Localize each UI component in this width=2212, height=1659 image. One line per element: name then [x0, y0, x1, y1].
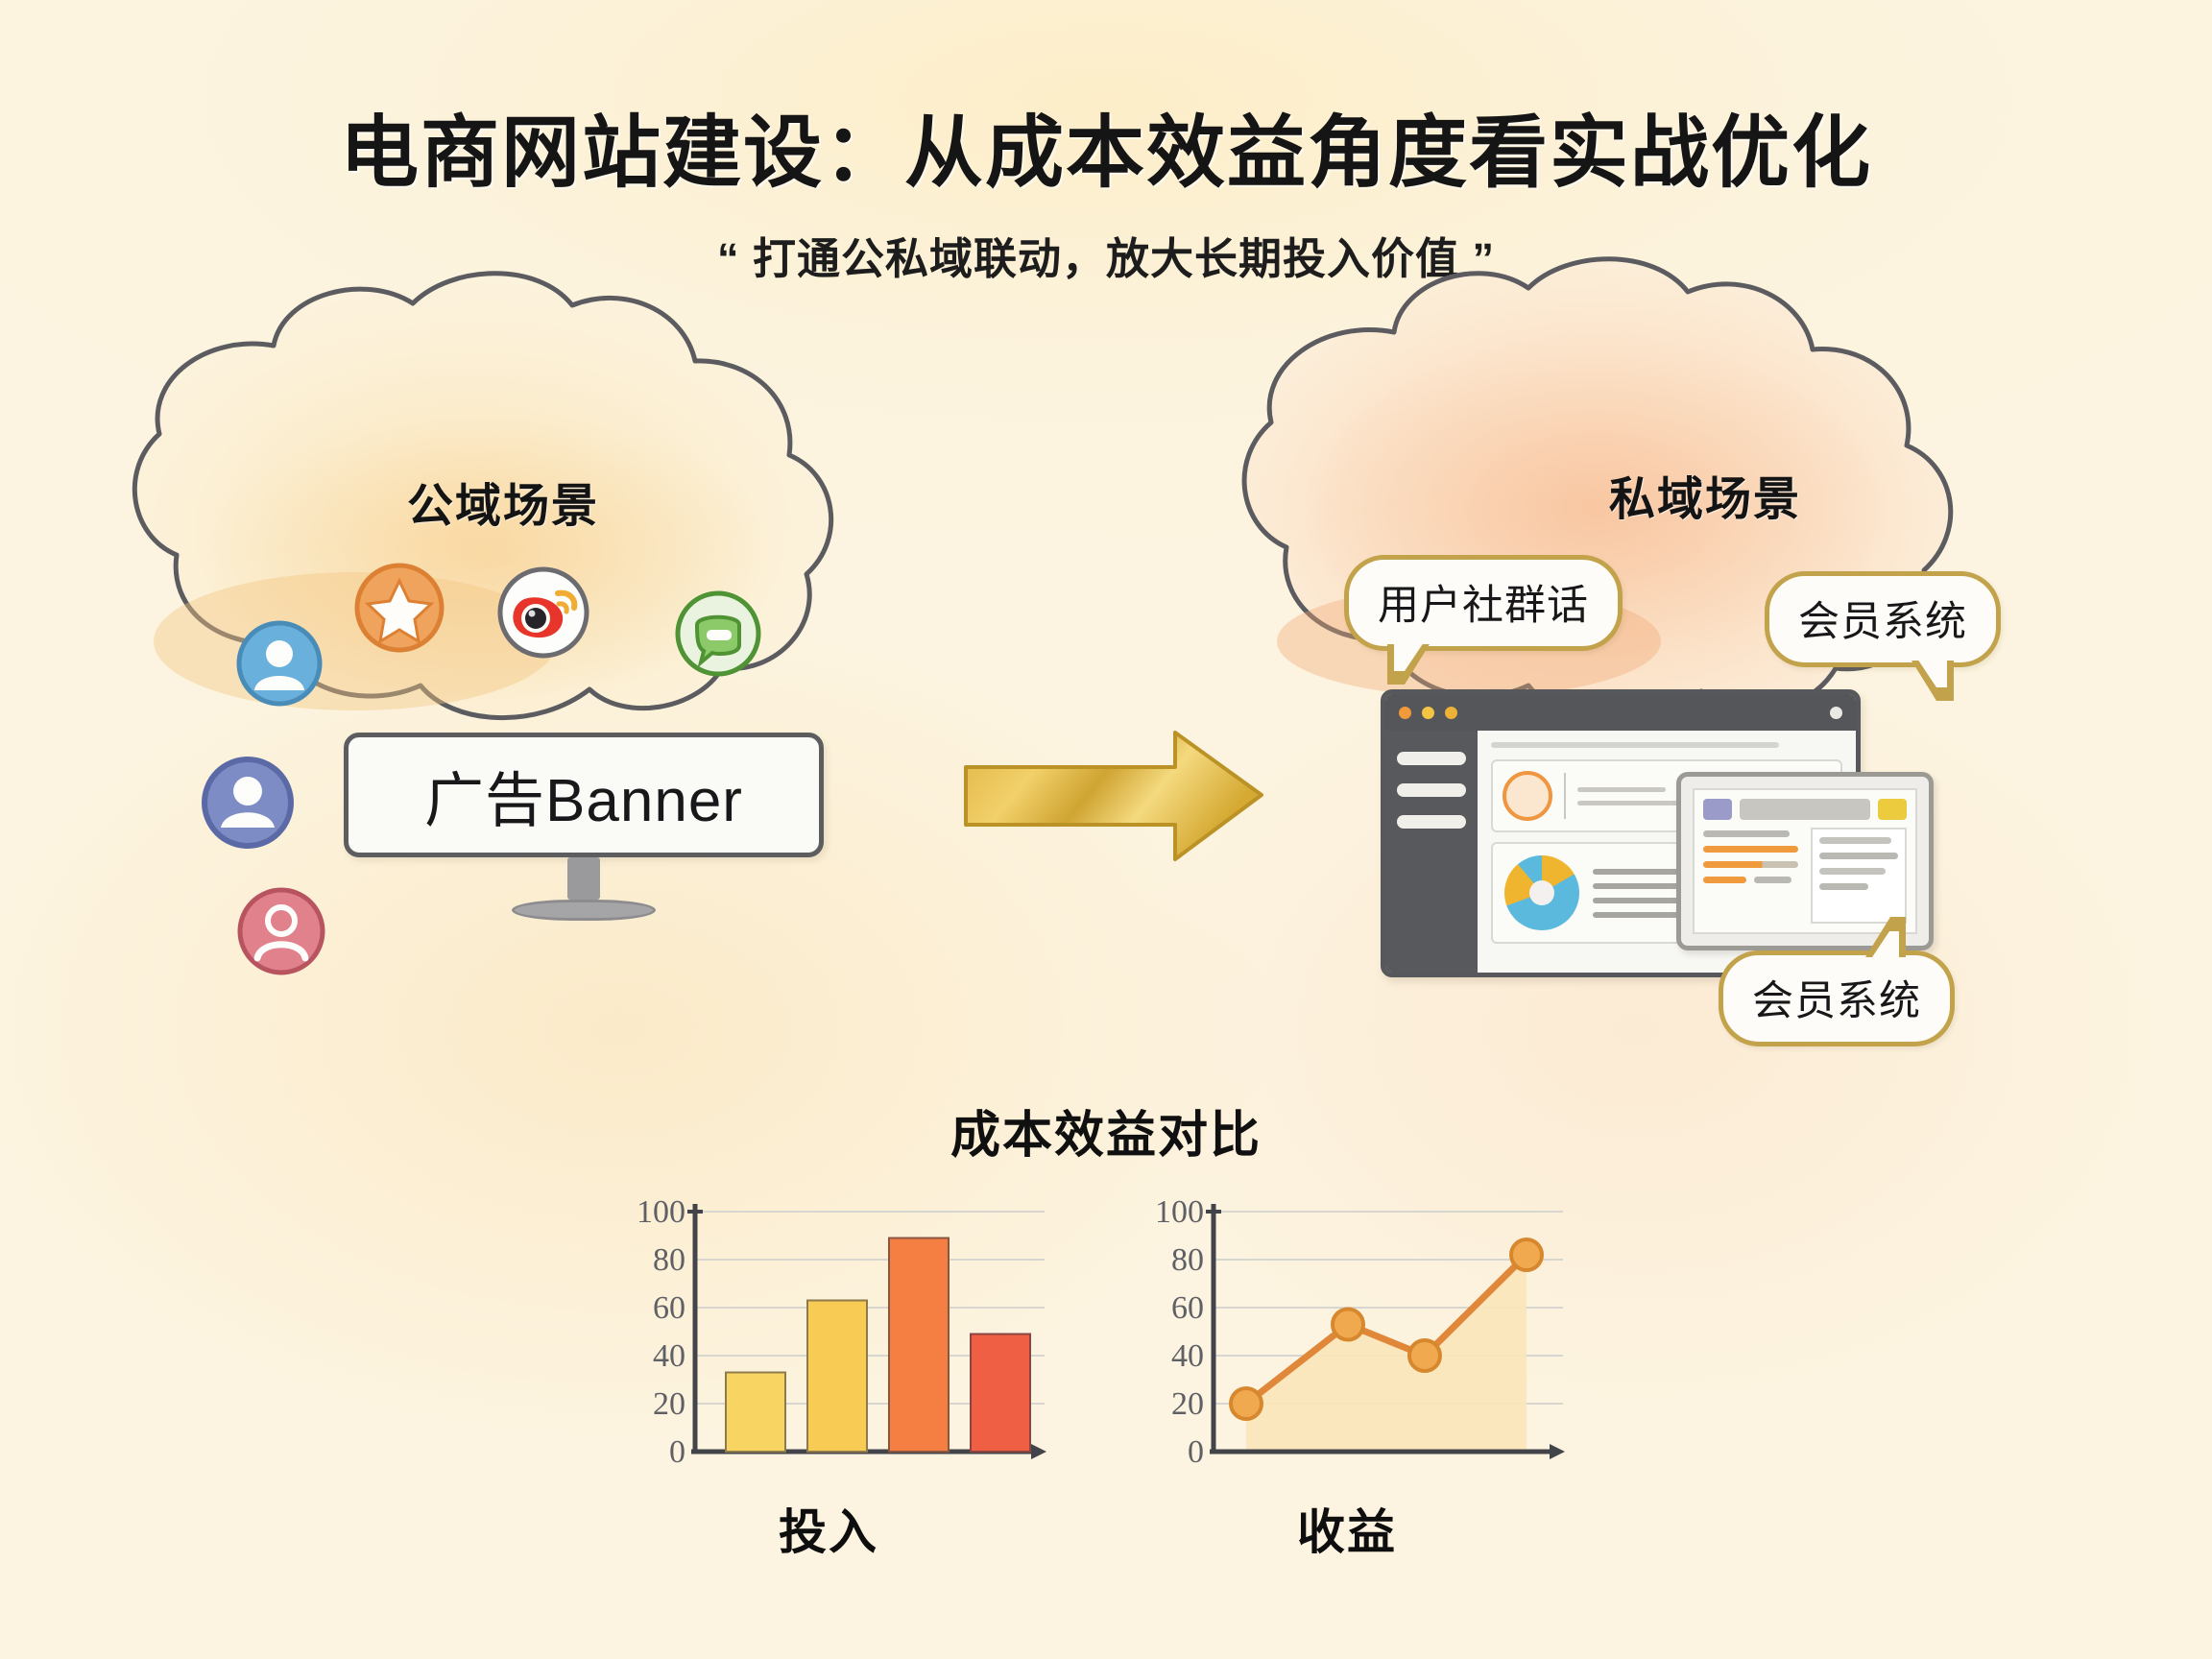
bubble-label: 会员系统 — [1752, 978, 1921, 1024]
svg-text:80: 80 — [1171, 1242, 1204, 1278]
bar-1 — [726, 1373, 785, 1453]
monitor-neck — [567, 857, 600, 900]
member-panel-toolbar — [1703, 799, 1907, 820]
svg-text:40: 40 — [653, 1338, 685, 1374]
window-dot-yellow-icon — [1422, 707, 1434, 719]
y-axis-ticks: 100 80 60 40 20 0 — [1155, 1194, 1204, 1470]
x-axis-arrow-icon — [1550, 1444, 1565, 1459]
bar-3 — [889, 1238, 949, 1453]
bubble-label: 会员系统 — [1798, 599, 1967, 645]
data-point-3 — [1409, 1340, 1440, 1371]
data-point-2 — [1333, 1310, 1363, 1340]
monitor-screen[interactable]: 广告Banner — [344, 733, 824, 857]
bubble-member-system-top[interactable]: 会员系统 — [1765, 571, 2001, 667]
window-dot-amber-icon — [1445, 707, 1457, 719]
sidebar-row[interactable] — [1397, 752, 1466, 765]
pie-chart-icon — [1504, 855, 1579, 930]
bubble-label: 用户社群话 — [1378, 583, 1589, 629]
bar-chart-xlabel: 投入 — [603, 1494, 1054, 1563]
bar-chart-investment: 100 80 60 40 20 0 投入 — [603, 1190, 1054, 1493]
bar-chart-svg: 100 80 60 40 20 0 — [603, 1190, 1054, 1488]
bubble-member-system-bottom[interactable]: 会员系统 — [1719, 950, 1955, 1046]
content-header-line — [1491, 742, 1779, 748]
toolbar-chip-purple-icon[interactable] — [1703, 799, 1732, 820]
member-panel-columns — [1703, 828, 1907, 924]
bar-2 — [807, 1301, 867, 1453]
data-point-1 — [1231, 1388, 1262, 1419]
window-dot-orange-icon — [1399, 707, 1411, 719]
user-avatar-red-icon[interactable] — [235, 885, 327, 977]
bubble-user-community[interactable]: 用户社群话 — [1344, 555, 1623, 651]
donut-chart-icon — [1503, 771, 1552, 821]
sidebar-row[interactable] — [1397, 783, 1466, 797]
line-chart-xlabel: 收益 — [1121, 1494, 1573, 1563]
member-detail-card — [1811, 828, 1907, 924]
toolbar-chip-yellow-icon[interactable] — [1878, 799, 1907, 820]
private-domain-label: 私域场景 — [1609, 461, 1801, 528]
divider — [1564, 773, 1566, 819]
user-avatar-blue-icon[interactable] — [235, 619, 324, 708]
toolbar-search-bar[interactable] — [1740, 799, 1870, 820]
weibo-logo-red-icon[interactable] — [495, 565, 591, 661]
svg-text:100: 100 — [637, 1194, 685, 1230]
star-badge-orange-icon[interactable] — [353, 562, 445, 654]
monitor-base — [512, 900, 656, 921]
svg-text:60: 60 — [1171, 1290, 1204, 1326]
svg-text:60: 60 — [653, 1290, 685, 1326]
bar-4 — [971, 1334, 1030, 1453]
member-list — [1703, 828, 1802, 924]
ad-banner-monitor: 广告Banner — [344, 733, 824, 921]
line-chart-svg: 100 80 60 40 20 0 — [1121, 1190, 1573, 1488]
sidebar-row[interactable] — [1397, 815, 1466, 829]
public-domain-label: 公域场景 — [407, 468, 599, 535]
svg-text:100: 100 — [1155, 1194, 1204, 1230]
slide-canvas: 电商网站建设：从成本效益角度看实战优化 “ 打通公私域联动，放大长期投入价值 ”… — [0, 0, 2212, 1659]
svg-text:0: 0 — [669, 1434, 685, 1470]
user-avatar-purple-icon[interactable] — [200, 755, 296, 851]
svg-text:0: 0 — [1188, 1434, 1204, 1470]
wechat-chat-green-icon[interactable] — [674, 589, 762, 678]
private-dashboard-mockup — [1381, 689, 1861, 977]
x-axis-arrow-icon — [1031, 1444, 1046, 1459]
chart-section-title: 成本效益对比 — [0, 1094, 2212, 1166]
svg-text:20: 20 — [1171, 1386, 1204, 1422]
ad-banner-text: 广告Banner — [424, 752, 743, 838]
area-fill — [1246, 1255, 1527, 1452]
dashboard-sidebar — [1385, 731, 1478, 977]
member-panel-content — [1693, 788, 1917, 934]
svg-text:20: 20 — [653, 1386, 685, 1422]
line-chart-revenue: 100 80 60 40 20 0 收益 — [1121, 1190, 1573, 1493]
page-title: 电商网站建设：从成本效益角度看实战优化 — [0, 88, 2212, 203]
dashboard-titlebar — [1385, 694, 1856, 731]
svg-text:80: 80 — [653, 1242, 685, 1278]
y-axis-ticks: 100 80 60 40 20 0 — [637, 1194, 685, 1470]
window-dot-close-icon[interactable] — [1830, 707, 1842, 719]
data-point-4 — [1511, 1239, 1542, 1270]
svg-text:40: 40 — [1171, 1338, 1204, 1374]
